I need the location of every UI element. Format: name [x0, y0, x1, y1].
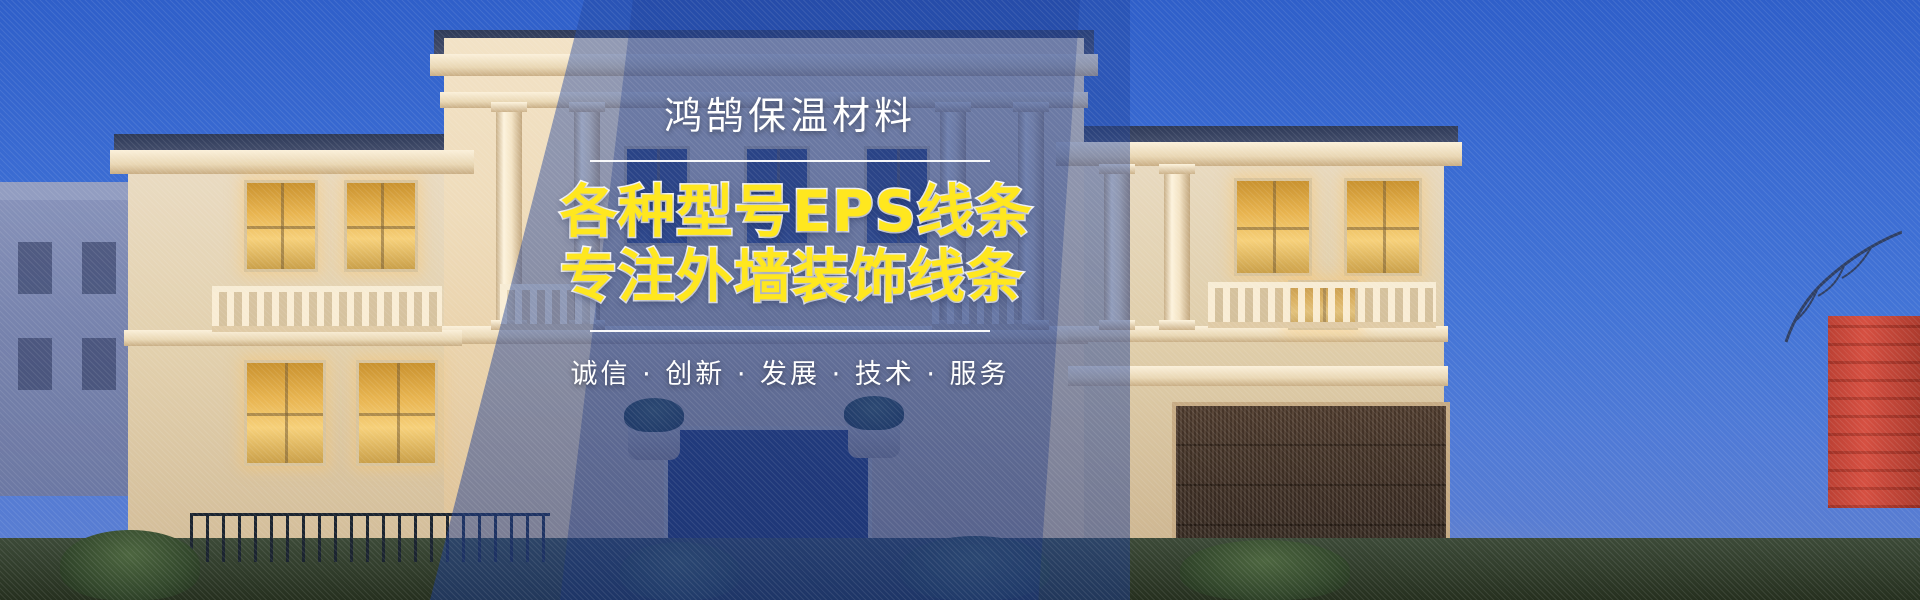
- cornice: [430, 54, 1098, 76]
- window-lit: [244, 180, 318, 272]
- divider-bottom: [590, 330, 990, 332]
- column: [1164, 172, 1190, 322]
- tree-branch-icon: [1752, 226, 1902, 356]
- distant-window: [18, 242, 52, 294]
- distant-window: [18, 338, 52, 390]
- shrub: [60, 530, 200, 600]
- window-lit: [344, 180, 418, 272]
- cornice: [124, 330, 462, 346]
- balustrade: [1208, 282, 1436, 328]
- banner-tagline: 诚信 · 创新 · 发展 · 技术 · 服务: [560, 352, 1020, 391]
- planter-shrub: [624, 398, 684, 432]
- window-lit: [244, 360, 326, 466]
- banner-text-block: 鸿鹄保温材料 各种型号EPS线条 专注外墙装饰线条 诚信 · 创新 · 发展 ·…: [560, 96, 1020, 391]
- shrub: [900, 536, 1050, 600]
- banner-headline: 各种型号EPS线条 专注外墙装饰线条: [560, 180, 1020, 310]
- column: [1104, 172, 1130, 322]
- divider-top: [590, 160, 990, 162]
- hero-banner: 鸿鹄保温材料 各种型号EPS线条 专注外墙装饰线条 诚信 · 创新 · 发展 ·…: [0, 0, 1920, 600]
- cornice: [1068, 366, 1448, 386]
- window-lit: [1344, 178, 1422, 276]
- cornice: [110, 150, 474, 174]
- balustrade: [212, 286, 442, 332]
- shrub: [620, 542, 740, 600]
- headline-line-1: 各种型号EPS线条: [560, 180, 1020, 245]
- cornice: [1056, 142, 1462, 166]
- banner-subtitle: 鸿鹄保温材料: [560, 96, 1020, 138]
- iron-fence: [190, 513, 550, 562]
- shrub: [1180, 540, 1350, 600]
- window-lit: [1234, 178, 1312, 276]
- window-lit: [356, 360, 438, 466]
- planter-shrub: [844, 396, 904, 430]
- headline-line-2: 专注外墙装饰线条: [560, 245, 1020, 310]
